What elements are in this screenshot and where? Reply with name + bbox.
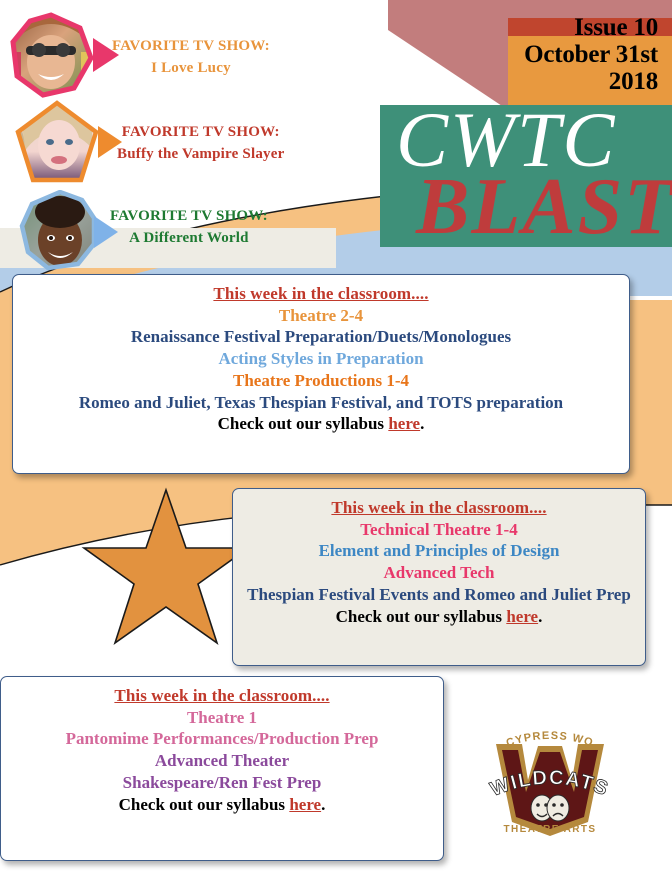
- callout-box-theatre-1: This week in the classroom.... Theatre 1…: [0, 676, 444, 861]
- favorite-show-1: I Love Lucy: [112, 58, 270, 80]
- syllabus-line: Check out our syllabus here.: [11, 795, 433, 816]
- favorite-text-2: FAVORITE TV SHOW: Buffy the Vampire Slay…: [117, 122, 284, 166]
- callout-line: Thespian Festival Events and Romeo and J…: [243, 585, 635, 606]
- syllabus-suffix: .: [420, 414, 424, 433]
- favorite-row-1: FAVORITE TV SHOW: I Love Lucy: [8, 12, 338, 98]
- issue-info-block: Issue 10 October 31st 2018: [502, 0, 672, 105]
- favorite-show-3: A Different World: [110, 228, 268, 250]
- callout-line: Advanced Tech: [243, 563, 635, 584]
- favorite-label-3: FAVORITE TV SHOW:: [110, 206, 268, 228]
- wildcats-logo-graphic: CYPRESS WOODS WILDCATS THEATRE ARTS: [480, 722, 620, 842]
- syllabus-link[interactable]: here: [388, 414, 420, 433]
- logo-bottom-text: THEATRE ARTS: [504, 824, 597, 835]
- star-icon: [84, 490, 248, 643]
- callout-line: Theatre 2-4: [23, 306, 619, 327]
- callout-line: Theatre Productions 1-4: [23, 371, 619, 392]
- callout-line: Shakespeare/Ren Fest Prep: [11, 773, 433, 794]
- callout-title: This week in the classroom....: [23, 284, 619, 305]
- syllabus-prefix: Check out our syllabus: [218, 414, 389, 433]
- favorite-label-1: FAVORITE TV SHOW:: [112, 36, 270, 58]
- callout-line: Advanced Theater: [11, 751, 433, 772]
- favorite-text-1: FAVORITE TV SHOW: I Love Lucy: [112, 36, 270, 80]
- masthead: CWTC BLAST: [380, 105, 672, 247]
- theatre-masks-icon: [531, 795, 569, 821]
- callout-line: Renaissance Festival Preparation/Duets/M…: [23, 327, 619, 348]
- callout-line: Romeo and Juliet, Texas Thespian Festiva…: [23, 393, 619, 414]
- wildcats-logo: CYPRESS WOODS WILDCATS THEATRE ARTS: [480, 722, 620, 842]
- syllabus-link[interactable]: here: [506, 607, 538, 626]
- syllabus-suffix: .: [538, 607, 542, 626]
- callout-line: Element and Principles of Design: [243, 541, 635, 562]
- syllabus-line: Check out our syllabus here.: [23, 414, 619, 435]
- syllabus-prefix: Check out our syllabus: [336, 607, 507, 626]
- callout-line: Pantomime Performances/Production Prep: [11, 729, 433, 750]
- avatar-3: [18, 190, 102, 274]
- callout-title: This week in the classroom....: [11, 686, 433, 707]
- syllabus-line: Check out our syllabus here.: [243, 607, 635, 628]
- syllabus-prefix: Check out our syllabus: [119, 795, 290, 814]
- issue-year: 2018: [502, 68, 658, 95]
- favorite-label-2: FAVORITE TV SHOW:: [117, 122, 284, 144]
- callout-title: This week in the classroom....: [243, 498, 635, 519]
- favorite-text-3: FAVORITE TV SHOW: A Different World: [110, 206, 268, 250]
- syllabus-link[interactable]: here: [289, 795, 321, 814]
- callout-line: Theatre 1: [11, 708, 433, 729]
- syllabus-suffix: .: [321, 795, 325, 814]
- favorite-show-2: Buffy the Vampire Slayer: [117, 144, 284, 166]
- masthead-title-blast: BLAST: [416, 167, 672, 247]
- issue-number: Issue 10: [502, 14, 658, 41]
- callout-line: Acting Styles in Preparation: [23, 349, 619, 370]
- callout-box-technical-theatre: This week in the classroom.... Technical…: [232, 488, 646, 666]
- callout-box-theatre-2-4: This week in the classroom.... Theatre 2…: [12, 274, 630, 474]
- favorite-row-2: FAVORITE TV SHOW: Buffy the Vampire Slay…: [14, 100, 354, 186]
- avatar-1: [8, 12, 94, 98]
- favorite-row-3: FAVORITE TV SHOW: A Different World: [18, 190, 358, 276]
- callout-line: Technical Theatre 1-4: [243, 520, 635, 541]
- newsletter-page: Issue 10 October 31st 2018 CWTC BLAST: [0, 0, 672, 872]
- avatar-2: [14, 100, 100, 186]
- issue-date: October 31st: [502, 41, 658, 68]
